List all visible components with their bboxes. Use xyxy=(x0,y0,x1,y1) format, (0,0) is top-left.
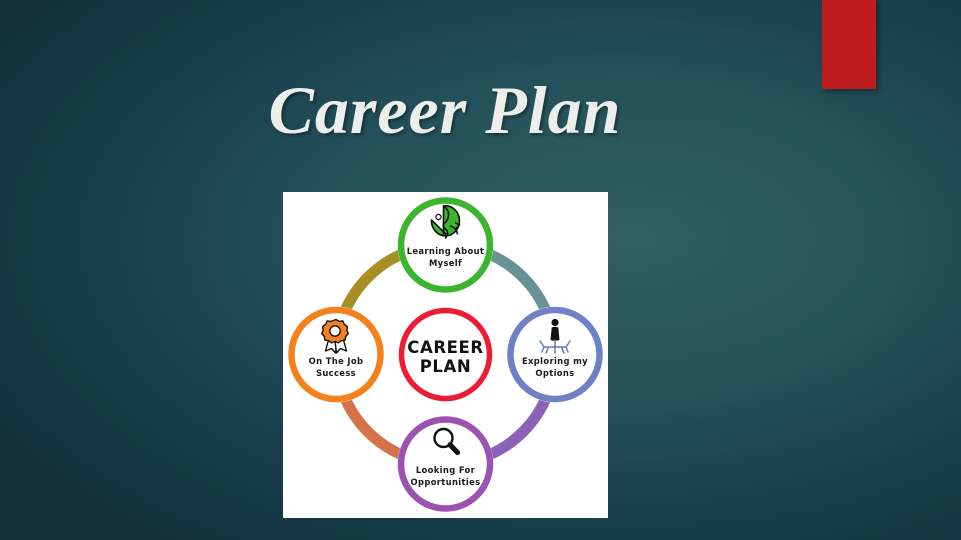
node-label-line2: Opportunities xyxy=(411,477,481,487)
award-rosette-icon xyxy=(322,320,349,354)
node-label-line1: Learning About xyxy=(407,246,485,256)
node-label-line2: Options xyxy=(535,368,574,378)
node-label-line1: Looking For xyxy=(416,465,476,475)
node-label-line2: Success xyxy=(316,368,356,378)
career-plan-diagram-svg: Learning About Myself xyxy=(283,192,608,518)
node-label-line1: On The Job xyxy=(309,356,364,366)
diagram-center-hub: CAREER PLAN xyxy=(401,310,491,400)
node-label-line1: Exploring my xyxy=(522,356,588,366)
page-title: Career Plan xyxy=(0,68,890,152)
center-label-line2: PLAN xyxy=(420,357,472,376)
slide-canvas: Career Plan xyxy=(0,0,961,540)
career-plan-diagram-image: Learning About Myself xyxy=(283,192,608,518)
node-label-line2: Myself xyxy=(429,258,462,268)
center-label-line1: CAREER xyxy=(407,338,483,357)
